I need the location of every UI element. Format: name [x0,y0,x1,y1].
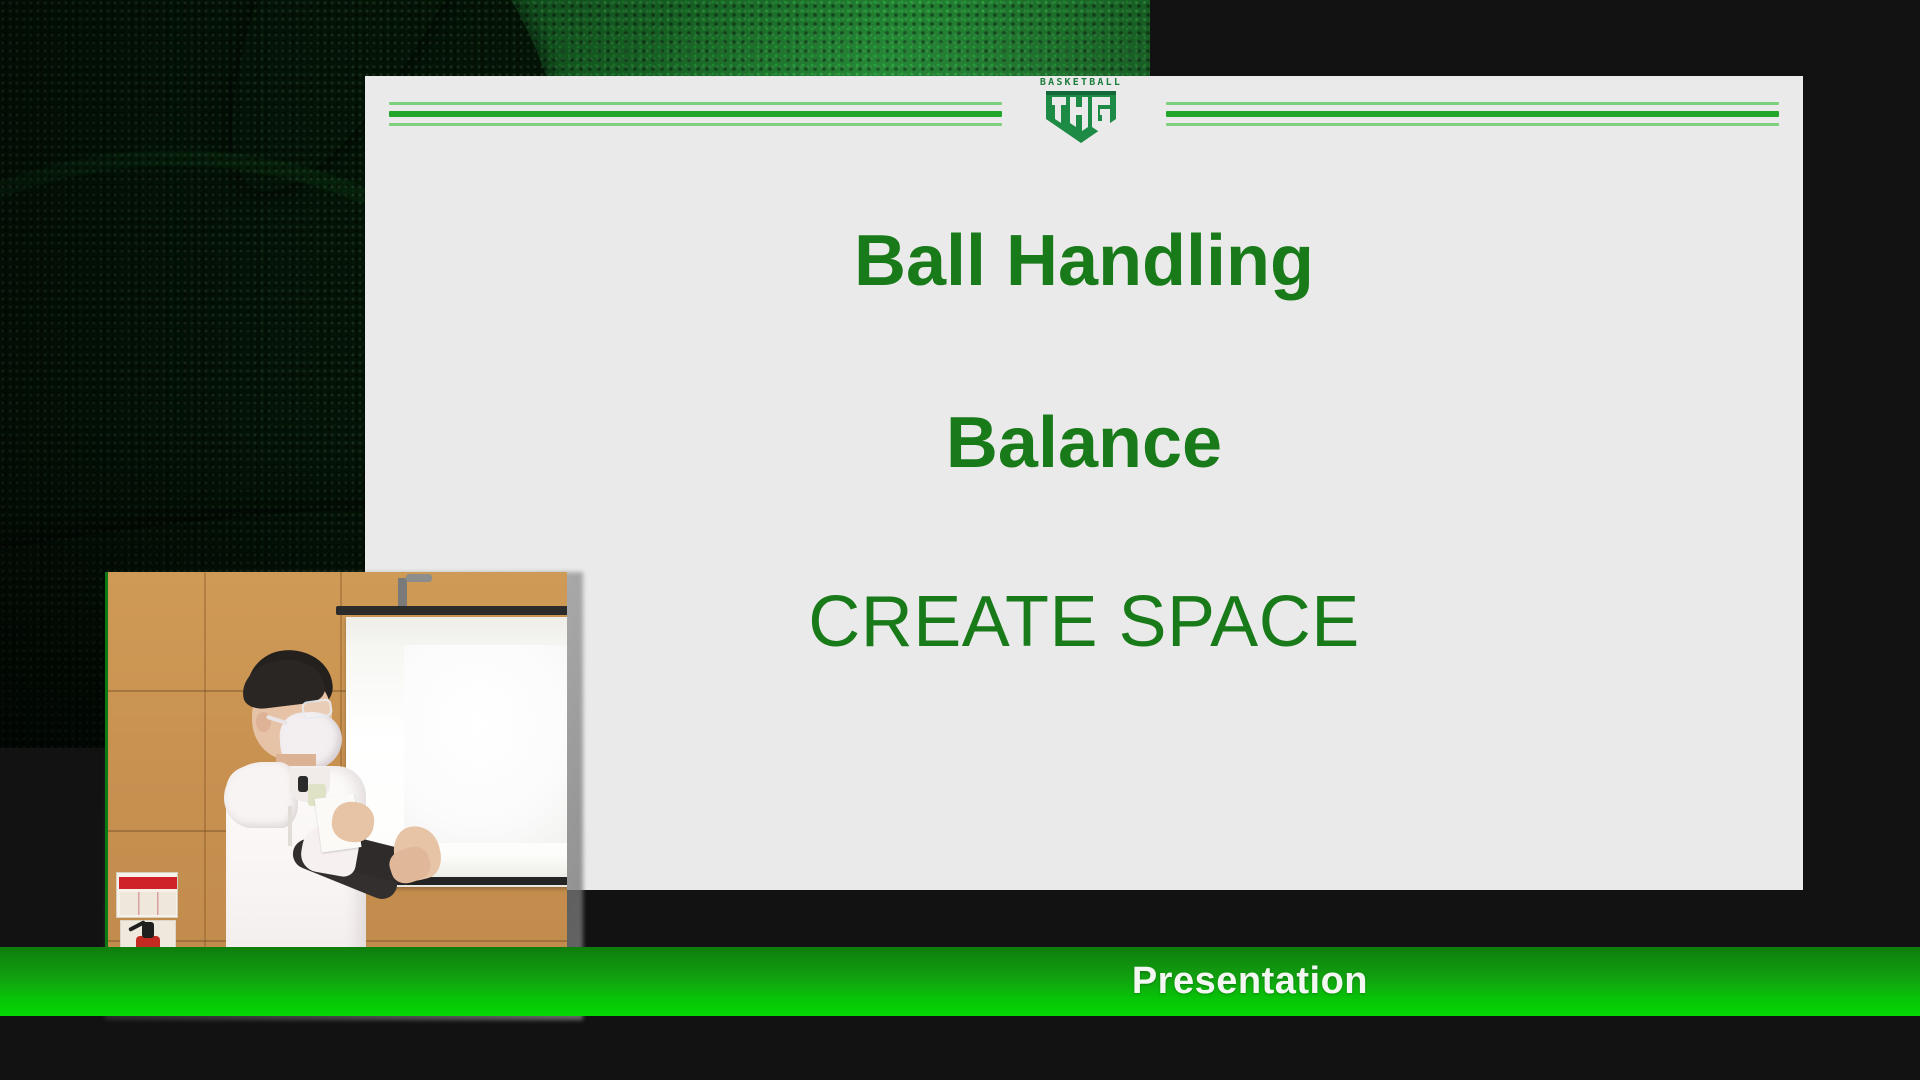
logo-shield-icon [1042,89,1120,145]
presenter-microphone [298,776,308,792]
header-rule-thin [389,123,1002,126]
banner-label: Presentation [1132,960,1368,1003]
slide-heading-tertiary: CREATE SPACE [808,585,1359,661]
slide-heading-secondary: Balance [946,406,1222,482]
header-rule-thin [1166,123,1779,126]
presenter-zipper [288,806,292,846]
logo-wordmark: BASKETBALL [1040,78,1122,88]
header-rule-thick [389,111,1002,117]
fire-extinguisher-sign [116,872,178,918]
screen-roller [336,606,567,615]
header-rules-right [1160,96,1785,132]
screen-bracket [398,578,407,608]
slide-heading-primary: Ball Handling [854,224,1314,300]
presenter-video-overlay[interactable] [105,572,567,1007]
header-rule-thick [1166,111,1779,117]
presentation-stage: BASKETBALL Ball Handling [0,0,1920,1080]
slide-header: BASKETBALL [365,76,1803,152]
header-rule-thin [1166,102,1779,105]
screen-bracket-arm [406,574,432,582]
team-logo: BASKETBALL [1022,78,1140,150]
header-rule-thin [389,102,1002,105]
presenter-hood [224,762,298,828]
header-rules-left [383,96,1008,132]
bottom-banner: Presentation [0,947,1920,1016]
